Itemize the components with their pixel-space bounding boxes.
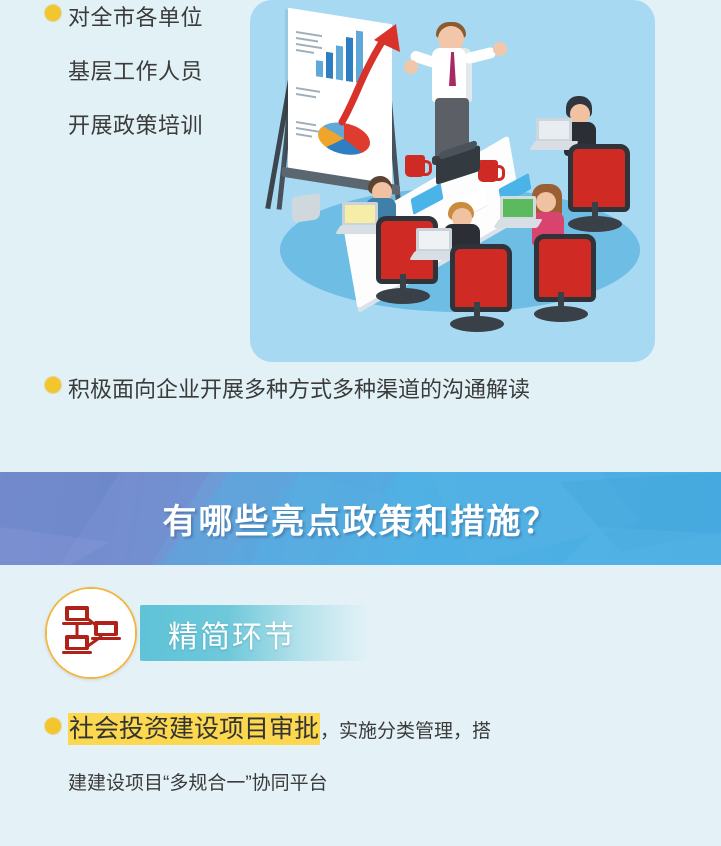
chart-text-line [296,127,320,133]
chart-text-line [296,87,320,93]
policy-paragraph: 社会投资建设项目审批，实施分类管理，搭 建建设项目“多规合一”协同平台 [68,703,638,810]
office-chair [450,244,512,312]
policy-line2: 建建设项目“多规合一”协同平台 [68,773,328,794]
chart-text-line [296,93,316,98]
bullet-dot [45,5,61,21]
section-banner: 有哪些亮点政策和措施？ [0,472,721,565]
chart-text-line [296,133,312,138]
infographic-page: 对全市各单位 基层工作人员 开展政策培训 积极面向企业开展多种方式多种渠道的沟通… [0,0,721,846]
policy-highlight: 社会投资建设项目审批 [68,713,320,745]
chair-base [450,316,504,332]
presenter-hand-right [493,42,507,56]
communication-line: 积极面向企业开展多种方式多种渠道的沟通解读 [68,372,530,404]
waste-bin [292,193,320,223]
person-head [536,192,556,212]
office-chair [568,144,630,212]
laptop [416,228,452,252]
meeting-illustration [250,0,655,362]
chair-base [376,288,430,304]
chart-bar [316,60,323,77]
chart-text-line [296,31,322,37]
chart-text-line [296,37,318,42]
laptop-screen [342,202,378,226]
training-line-2: 基层工作人员 [68,54,203,86]
office-chair [534,234,596,302]
presenter-hand-left [404,60,418,74]
bullet-dot [45,377,61,393]
chapter-title: 精简环节 [168,612,296,656]
banner-title: 有哪些亮点政策和措施？ [0,472,721,565]
laptop [536,118,572,142]
laptop-screen [416,228,452,252]
laptop-screen [536,118,572,142]
bullet-dot [45,718,61,734]
chart-text-line [296,121,316,126]
chart-bar [326,52,333,79]
laptop [342,202,378,226]
policy-rest-line1: ，实施分类管理，搭 [320,721,491,742]
training-line-1: 对全市各单位 [68,0,203,32]
coffee-mug [405,155,425,177]
networked-computers-icon [60,602,122,664]
coffee-mug [478,160,498,182]
networked-computers-badge [45,587,137,679]
laptop [500,196,536,220]
chart-text-line [296,49,314,54]
chart-text-line [296,43,322,49]
training-line-3: 开展政策培训 [68,108,203,140]
chair-base [534,306,588,322]
laptop-base [493,219,543,228]
chair-base [568,216,622,232]
person-head [570,104,590,124]
growth-arrow-icon [338,18,408,128]
laptop-screen [500,196,536,220]
